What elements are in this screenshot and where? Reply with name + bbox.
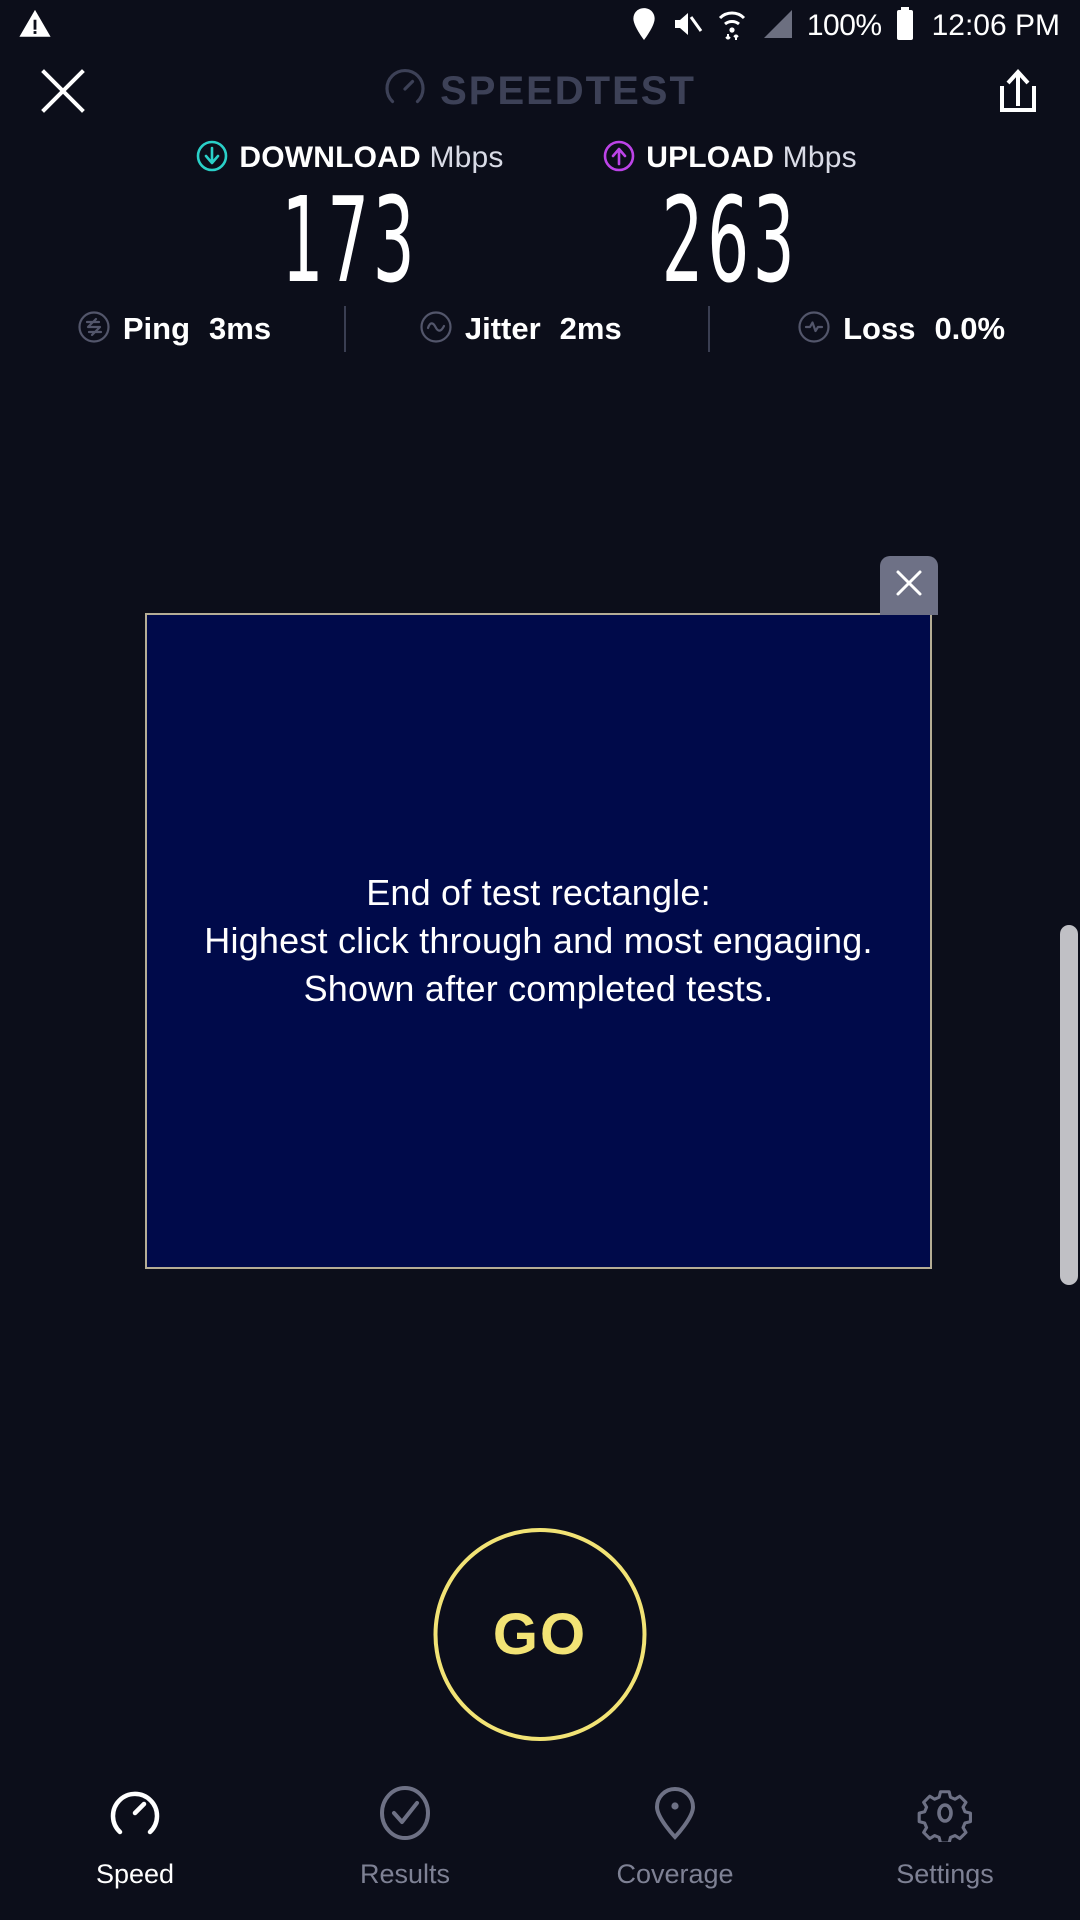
upload-result: UPLOAD Mbps 263 <box>540 140 920 300</box>
ad-close-button[interactable] <box>880 556 938 615</box>
metric-loss-label: Loss <box>843 311 915 347</box>
speedometer-icon <box>384 68 426 115</box>
ad-line-1: End of test rectangle: <box>204 869 872 917</box>
metric-ping-label: Ping <box>123 311 190 347</box>
metric-ping: Ping 3ms <box>77 310 271 349</box>
status-clock: 12:06 PM <box>932 9 1060 43</box>
tab-results[interactable]: Results <box>270 1784 540 1890</box>
battery-percent-label: 100% <box>807 9 882 43</box>
go-button-label: GO <box>493 1601 587 1668</box>
network-metrics: Ping 3ms Jitter 2ms Loss 0.0% <box>0 300 1080 358</box>
scrollbar[interactable] <box>1060 925 1078 1285</box>
metric-loss-value: 0.0% <box>934 311 1005 347</box>
status-left <box>18 7 52 46</box>
loss-icon <box>797 310 831 349</box>
volume-muted-icon <box>670 8 704 45</box>
metric-loss: Loss 0.0% <box>797 310 1005 349</box>
advertisement[interactable]: End of test rectangle: Highest click thr… <box>145 613 932 1269</box>
location-pin-icon <box>631 7 657 46</box>
cellular-signal-icon <box>760 8 794 45</box>
app-header: SPEEDTEST <box>0 52 1080 130</box>
download-value: 173 <box>232 180 468 300</box>
bottom-navigation: Speed Results Coverage Settings <box>0 1772 1080 1920</box>
wifi-icon <box>717 7 747 46</box>
ad-rectangle[interactable]: End of test rectangle: Highest click thr… <box>145 613 932 1269</box>
arrow-down-circle-icon <box>196 140 228 177</box>
location-pin-icon <box>646 1784 704 1847</box>
tab-coverage[interactable]: Coverage <box>540 1784 810 1890</box>
arrow-up-circle-icon <box>603 140 635 177</box>
app-title-group: SPEEDTEST <box>0 52 1080 130</box>
results-row: DOWNLOAD Mbps 173 UPLOAD Mbps 263 <box>0 140 1080 300</box>
ad-text: End of test rectangle: Highest click thr… <box>204 869 872 1013</box>
gear-icon <box>916 1784 974 1847</box>
tab-speed[interactable]: Speed <box>0 1784 270 1890</box>
status-bar: 100% 12:06 PM <box>0 0 1080 52</box>
speedometer-icon <box>106 1784 164 1847</box>
download-result: DOWNLOAD Mbps 173 <box>160 140 540 300</box>
tab-settings-label: Settings <box>896 1859 994 1890</box>
tab-settings[interactable]: Settings <box>810 1784 1080 1890</box>
metric-jitter-value: 2ms <box>560 311 622 347</box>
battery-full-icon <box>895 7 915 46</box>
metric-jitter-label: Jitter <box>465 311 541 347</box>
check-circle-icon <box>376 1784 434 1847</box>
close-icon <box>894 568 924 603</box>
metric-jitter: Jitter 2ms <box>419 310 622 349</box>
jitter-icon <box>419 310 453 349</box>
warning-triangle-icon <box>18 7 52 46</box>
ad-line-2: Highest click through and most engaging. <box>204 917 872 965</box>
ping-icon <box>77 310 111 349</box>
metric-divider <box>708 306 710 352</box>
page-title: SPEEDTEST <box>440 69 696 114</box>
test-results: DOWNLOAD Mbps 173 UPLOAD Mbps 263 <box>0 140 1080 300</box>
upload-value: 263 <box>612 180 848 300</box>
go-button[interactable]: GO <box>434 1528 647 1741</box>
ad-line-3: Shown after completed tests. <box>204 965 872 1013</box>
tab-results-label: Results <box>360 1859 450 1890</box>
download-label: DOWNLOAD Mbps <box>239 141 503 175</box>
share-icon <box>996 68 1040 121</box>
upload-label: UPLOAD Mbps <box>646 141 857 175</box>
share-button[interactable] <box>988 64 1048 124</box>
tab-coverage-label: Coverage <box>616 1859 733 1890</box>
metric-ping-value: 3ms <box>209 311 271 347</box>
tab-speed-label: Speed <box>96 1859 174 1890</box>
status-right: 100% 12:06 PM <box>631 7 1060 46</box>
metric-divider <box>344 306 346 352</box>
